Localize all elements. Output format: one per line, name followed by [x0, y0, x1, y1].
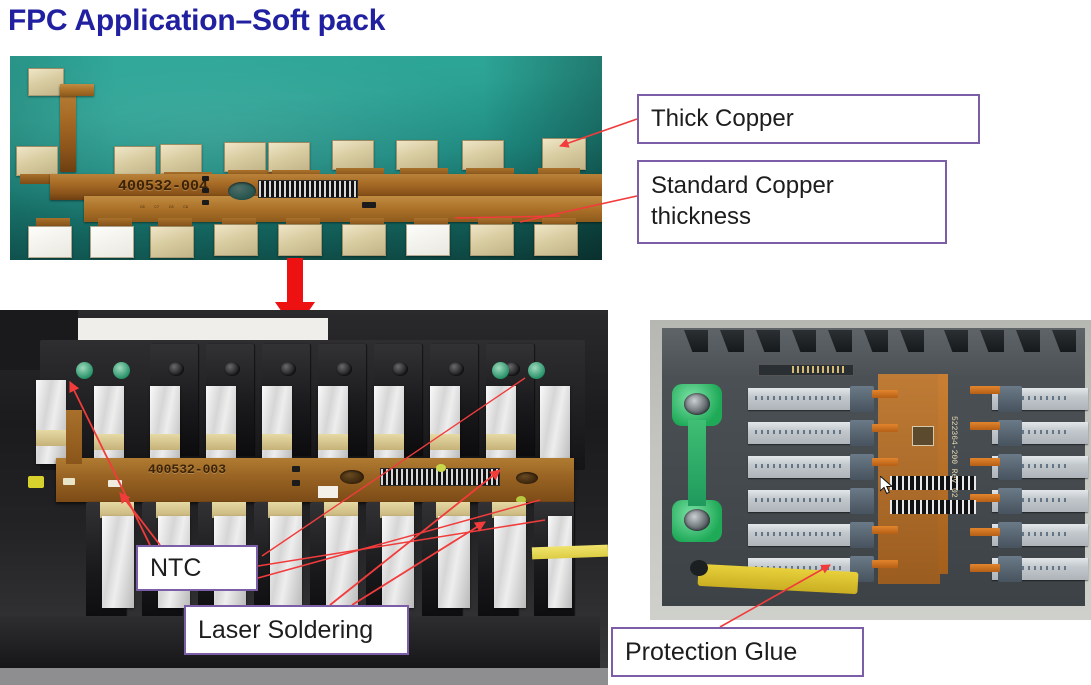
callout-label: Thick Copper — [651, 104, 794, 135]
smd-component — [292, 480, 300, 486]
fpc-wire — [872, 526, 898, 534]
fixture-knob — [224, 362, 240, 376]
green-sensor-cap — [113, 362, 130, 379]
pouch-cell — [494, 516, 526, 608]
fpc-branch — [66, 410, 82, 464]
pouch-cell — [548, 516, 572, 608]
smd-component — [292, 466, 300, 472]
callout-thick-copper[interactable]: Thick Copper — [637, 94, 980, 144]
cell-tab — [206, 434, 236, 450]
silkscreen-text: 400532-003 — [148, 462, 226, 477]
cell-tab — [94, 434, 124, 450]
pouch-cell — [430, 386, 460, 466]
fpc-wire — [872, 458, 898, 466]
pouch-cell — [326, 516, 358, 608]
busbar-tab — [850, 420, 874, 446]
fixture-knob — [280, 362, 296, 376]
busbar-tab — [998, 386, 1022, 412]
cell-tab — [262, 434, 292, 450]
cell-tab — [374, 434, 404, 450]
fpc-trace — [60, 84, 94, 96]
fpc-trace — [60, 86, 76, 172]
fpc-pad — [16, 146, 58, 176]
fpc-pad — [214, 224, 258, 256]
heatsink-fin — [684, 330, 708, 352]
heatsink-fin — [1016, 330, 1040, 352]
laser-weld-point — [436, 464, 446, 472]
ic-pin-row — [890, 500, 976, 514]
fpc-wire — [970, 386, 1000, 394]
cell-tab — [486, 434, 516, 450]
busbar-tab — [998, 454, 1022, 480]
fpc-wire — [872, 390, 898, 398]
terminal-bore — [684, 393, 710, 415]
fpc-pad — [406, 224, 450, 256]
bench-surface — [0, 668, 608, 685]
busbar-tab — [998, 522, 1022, 548]
heatsink-fin — [864, 330, 888, 352]
callout-label: Protection Glue — [625, 636, 797, 668]
green-sensor-cap — [528, 362, 545, 379]
callout-protection-glue[interactable]: Protection Glue — [611, 627, 864, 677]
backdrop — [78, 318, 328, 340]
cell-marking — [755, 396, 841, 400]
fixture-knob — [448, 362, 464, 376]
pouch-cell — [486, 386, 516, 466]
fpc-mounting-hole — [516, 472, 538, 484]
heatsink-fin — [828, 330, 852, 352]
fpc-mounting-hole — [340, 470, 364, 484]
silkscreen-text: 522364-200 Rev 02 — [949, 416, 958, 498]
cell-marking — [755, 532, 841, 536]
silkscreen-text: 400532-004 — [118, 178, 208, 195]
pouch-cell — [206, 386, 236, 466]
fpc-pad — [224, 142, 266, 172]
fpc-pad — [278, 224, 322, 256]
busbar-tab — [850, 488, 874, 514]
heatsink-fin — [756, 330, 780, 352]
connector-pins — [792, 366, 846, 373]
callout-laser-soldering[interactable]: Laser Soldering — [184, 605, 409, 655]
smd-component — [202, 200, 209, 205]
busbar-tab — [998, 556, 1022, 582]
callout-label: Laser Soldering — [198, 614, 373, 646]
green-terminal — [672, 500, 722, 542]
ic-pin-row — [890, 476, 976, 490]
busbar-tab — [850, 386, 874, 412]
callout-label: Standard Copper thickness — [651, 171, 933, 232]
cell-marking — [755, 430, 841, 434]
ntc-thermistor — [63, 478, 75, 485]
fpc-pad — [342, 224, 386, 256]
glue-nozzle-mark — [690, 560, 708, 576]
cell-tab — [150, 434, 180, 450]
pouch-cell — [94, 386, 124, 466]
ntc-thermistor — [108, 480, 122, 487]
pouch-cell — [270, 516, 302, 608]
pouch-cell — [540, 386, 570, 466]
busbar-tab — [850, 454, 874, 480]
fpc-pad-thick-copper — [542, 138, 586, 170]
terminal-bore — [684, 509, 710, 531]
fpc-spine — [938, 374, 948, 574]
mouse-cursor-icon — [880, 476, 894, 496]
heatsink-fin — [944, 330, 968, 352]
heatsink-fin — [900, 330, 924, 352]
fpc-pad — [268, 142, 310, 172]
cell-tab — [430, 434, 460, 450]
fpc-pad — [114, 146, 156, 176]
image-fpc-top: 400532-004 C6 C7 C8 C9 — [10, 56, 602, 260]
fpc-wire — [970, 528, 1000, 536]
callout-ntc[interactable]: NTC — [136, 545, 258, 591]
heatsink-fin — [792, 330, 816, 352]
fpc-pad — [396, 140, 438, 170]
fpc-wire — [872, 424, 898, 432]
fpc-pad — [470, 224, 514, 256]
fpc-pad — [28, 68, 64, 96]
component-label — [912, 426, 934, 446]
qr-label — [318, 486, 338, 498]
fpc-wire — [970, 422, 1000, 430]
busbar-tab — [998, 488, 1022, 514]
fpc-pad — [150, 226, 194, 258]
module-body: 522364-200 Rev 02 — [662, 328, 1085, 606]
fpc-pad — [534, 224, 578, 256]
yellow-bench-stripe — [532, 545, 608, 560]
smd-component — [202, 176, 209, 181]
fixture-knob — [168, 362, 184, 376]
pouch-cell — [438, 516, 470, 608]
fixture-knob — [336, 362, 352, 376]
busbar-tab — [998, 420, 1022, 446]
cell-tab — [36, 430, 66, 446]
green-terminal-bridge — [688, 420, 706, 506]
fpc-pad — [462, 140, 504, 170]
page-title: FPC Application–Soft pack — [8, 4, 385, 38]
fpc-pad — [90, 226, 134, 258]
cell-marking — [755, 498, 841, 502]
image-module-right: 522364-200 Rev 02 — [650, 320, 1091, 620]
busbar-tab — [850, 522, 874, 548]
pouch-cell — [374, 386, 404, 466]
pouch-cell — [318, 386, 348, 466]
pouch-cell — [150, 386, 180, 466]
green-sensor-cap — [492, 362, 509, 379]
green-sensor-cap — [76, 362, 93, 379]
fpc-wire — [872, 560, 898, 568]
fpc-wire — [970, 564, 1000, 572]
fpc-wire — [970, 458, 1000, 466]
fpc-pad — [332, 140, 374, 170]
connector-pin-row — [258, 180, 358, 198]
heatsink-fin — [1052, 330, 1076, 352]
cell-marking — [755, 464, 841, 468]
pouch-cell — [262, 386, 292, 466]
pouch-cell — [382, 516, 414, 608]
heatsink-fin — [720, 330, 744, 352]
callout-standard-copper[interactable]: Standard Copper thickness — [637, 160, 947, 244]
smd-component — [202, 188, 209, 193]
cell-tab — [318, 434, 348, 450]
smd-component — [362, 202, 376, 208]
fixture-knob — [392, 362, 408, 376]
pouch-cell — [102, 516, 134, 608]
pouch-cell — [36, 380, 66, 464]
fpc-mounting-hole — [228, 182, 256, 200]
fpc-pad — [160, 144, 202, 174]
callout-label: NTC — [150, 552, 201, 584]
fpc-marker — [28, 476, 44, 488]
fpc-pad — [28, 226, 72, 258]
heatsink-fin — [980, 330, 1004, 352]
